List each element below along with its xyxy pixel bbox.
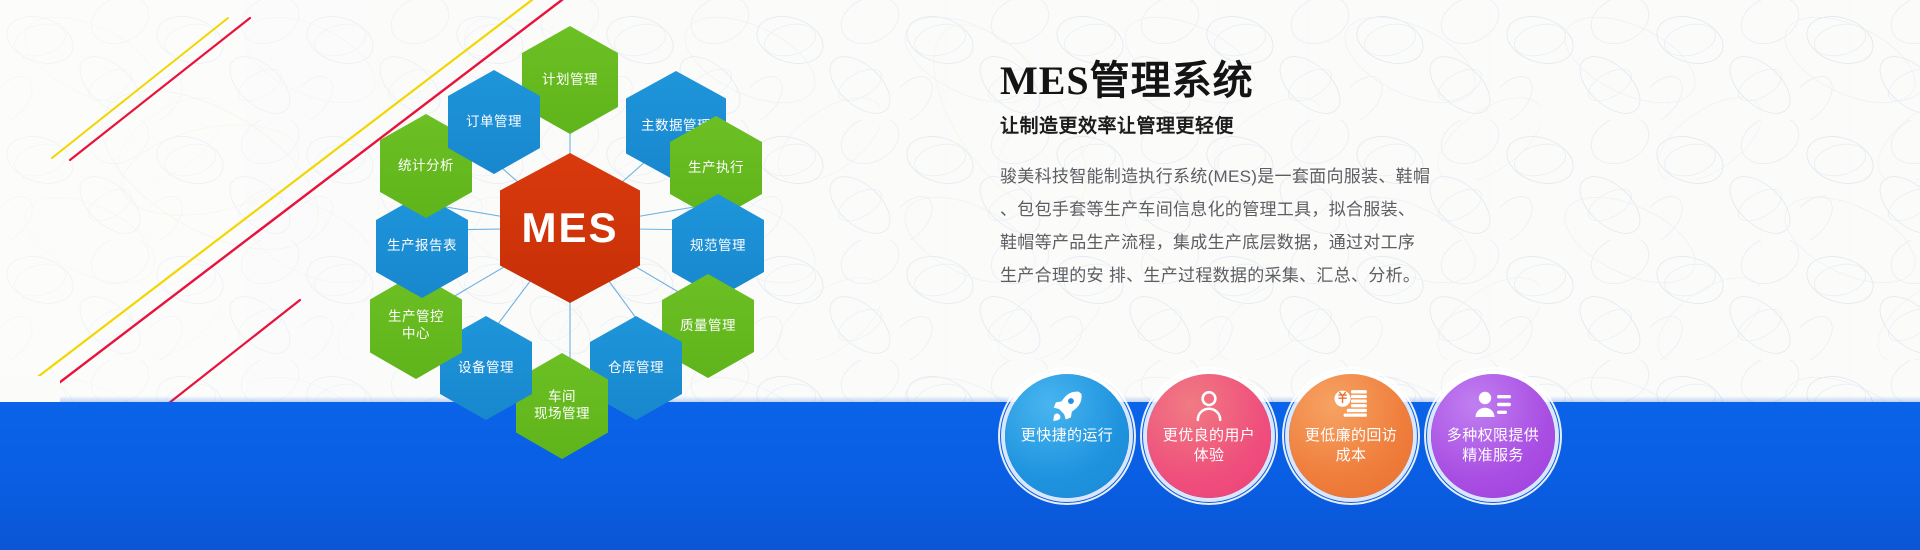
feature-badge[interactable]: 更快捷的运行 — [1005, 374, 1129, 498]
feature-badge[interactable]: 更优良的用户体验 — [1147, 374, 1271, 498]
description-line: 生产合理的安 排、生产过程数据的采集、汇总、分析。 — [1000, 259, 1560, 292]
mes-hexagon-diagram: 计划管理主数据管理生产执行规范管理质量管理仓库管理车间现场管理设备管理生产管控中… — [340, 18, 800, 438]
badge-ring — [998, 367, 1136, 505]
hex-center-mes[interactable]: MES — [500, 153, 640, 303]
feature-badge[interactable]: 更低廉的回访成本 — [1289, 374, 1413, 498]
description-line: 、包包手套等生产车间信息化的管理工具，拟合服装、 — [1000, 193, 1560, 226]
background-band-edge — [0, 396, 1920, 402]
badge-ring — [1140, 367, 1278, 505]
banner-stage: 计划管理主数据管理生产执行规范管理质量管理仓库管理车间现场管理设备管理生产管控中… — [0, 0, 1920, 550]
banner-content: MES管理系统 让制造更效率让管理更轻便 骏美科技智能制造执行系统(MES)是一… — [1000, 58, 1600, 292]
decorative-wedge — [0, 376, 60, 402]
badge-ring — [1282, 367, 1420, 505]
page-title: MES管理系统 — [1000, 58, 1600, 104]
description-line: 骏美科技智能制造执行系统(MES)是一套面向服装、鞋帽 — [1000, 160, 1560, 193]
description-paragraph: 骏美科技智能制造执行系统(MES)是一套面向服装、鞋帽、包包手套等生产车间信息化… — [1000, 160, 1560, 292]
background-blue-band — [0, 402, 1920, 550]
feature-badges: 更快捷的运行更优良的用户体验更低廉的回访成本多种权限提供精准服务 — [1005, 374, 1555, 498]
description-line: 鞋帽等产品生产流程，集成生产底层数据，通过对工序 — [1000, 226, 1560, 259]
badge-ring — [1424, 367, 1562, 505]
feature-badge[interactable]: 多种权限提供精准服务 — [1431, 374, 1555, 498]
page-subtitle: 让制造更效率让管理更轻便 — [1000, 111, 1600, 138]
